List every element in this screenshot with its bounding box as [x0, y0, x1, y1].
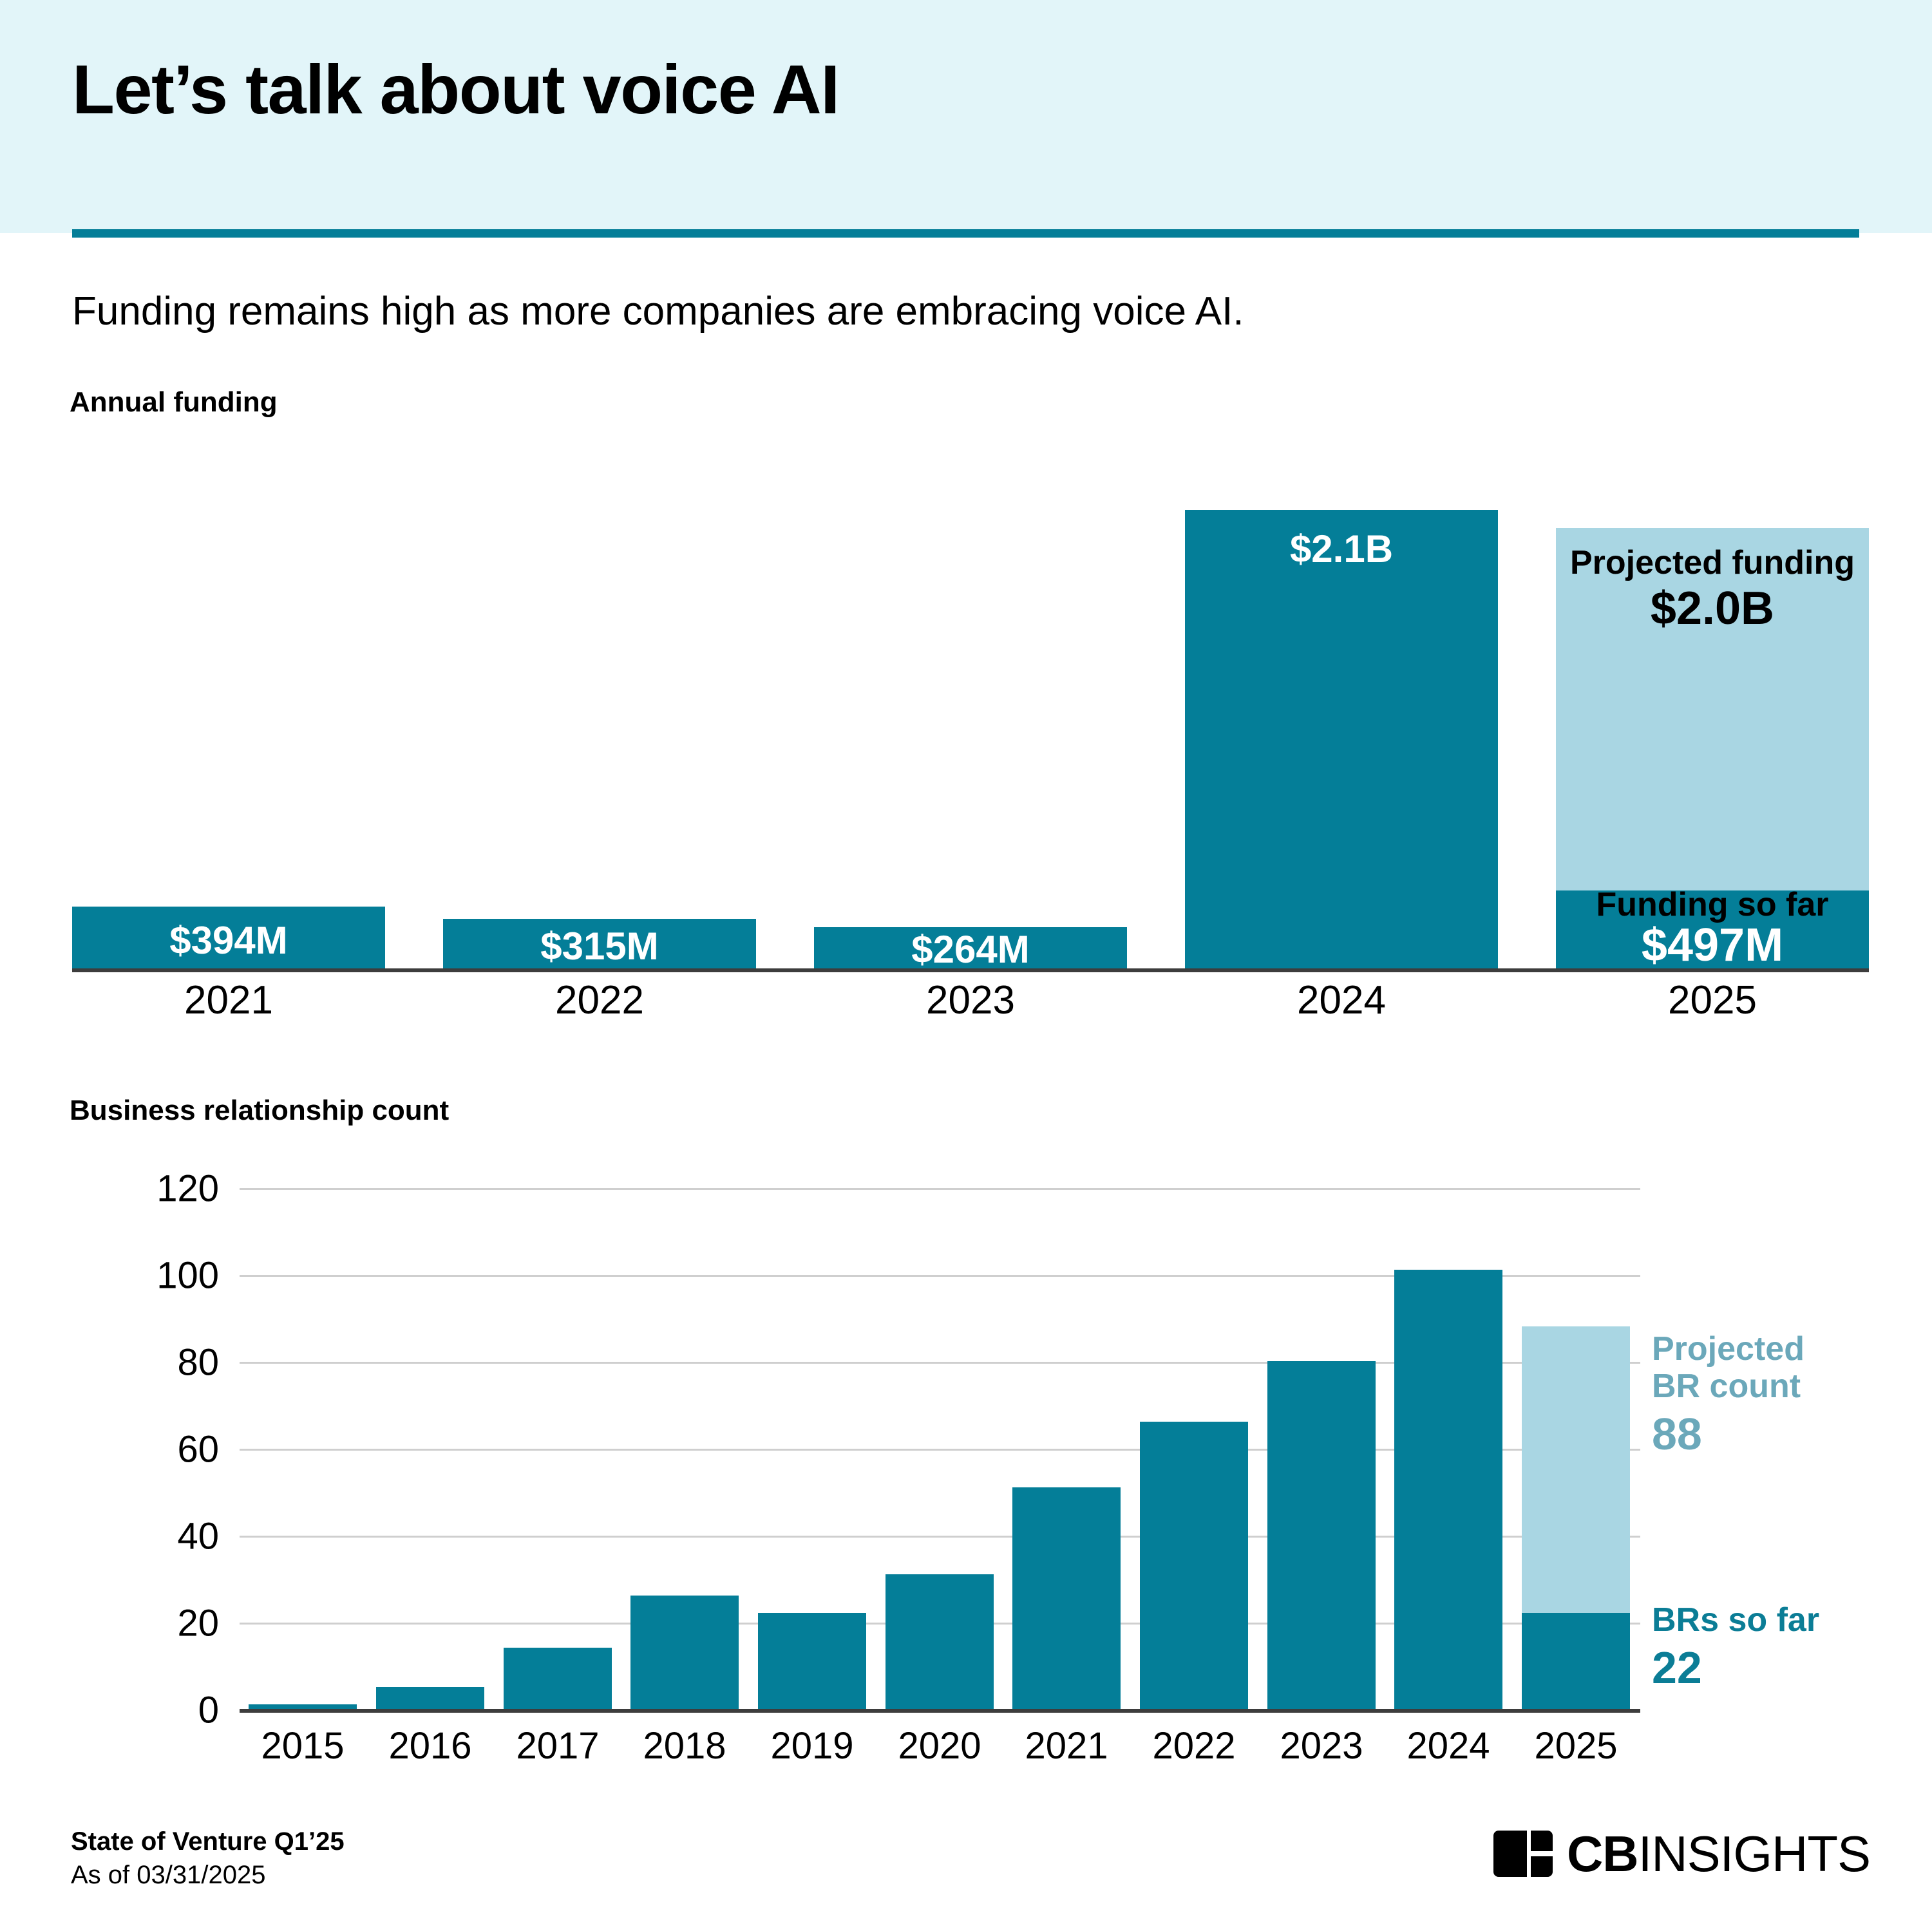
br-sofar-value: 22 — [1652, 1643, 1909, 1693]
br-x-axis-labels: 2015 2016 2017 2018 2019 2020 2021 2022 … — [240, 1724, 1640, 1782]
br-xlabel-2025: 2025 — [1522, 1724, 1630, 1767]
funding-value-2024: $2.1B — [1185, 527, 1498, 571]
br-xlabel-2022: 2022 — [1140, 1724, 1248, 1767]
cb-insights-mark-icon — [1493, 1831, 1553, 1877]
br-xlabel-2017: 2017 — [504, 1724, 612, 1767]
br-xlabel-2021: 2021 — [1012, 1724, 1121, 1767]
br-xlabel-2023: 2023 — [1267, 1724, 1376, 1767]
funding-value-2022: $315M — [443, 924, 756, 968]
funding-xlabel-2025: 2025 — [1556, 977, 1869, 1023]
br-xlabel-2019: 2019 — [758, 1724, 866, 1767]
funding-bar-2025-sofar: Funding so far $497M — [1556, 890, 1869, 968]
br-sofar-caption: BRs so far — [1652, 1601, 1819, 1639]
br-ytick-80: 80 — [90, 1341, 219, 1384]
section-label-annual-funding: Annual funding — [70, 386, 278, 419]
funding-projected-caption: Projected funding — [1556, 543, 1869, 582]
br-projected-value: 88 — [1652, 1409, 1909, 1459]
br-ytick-100: 100 — [90, 1254, 219, 1297]
funding-bar-2023: $264M — [814, 927, 1127, 968]
funding-value-2021: $394M — [72, 918, 385, 963]
br-xlabel-2015: 2015 — [249, 1724, 357, 1767]
br-ytick-120: 120 — [90, 1167, 219, 1210]
logo-square-bottom-right — [1531, 1856, 1553, 1877]
br-projected-annotation: Projected BR count 88 — [1652, 1330, 1909, 1460]
br-bar-2018 — [630, 1596, 739, 1709]
br-bar-2024 — [1394, 1270, 1502, 1709]
br-xlabel-2016: 2016 — [376, 1724, 484, 1767]
funding-bar-2022: $315M — [443, 919, 756, 968]
br-bar-2016 — [376, 1687, 484, 1709]
br-bar-2015 — [249, 1704, 357, 1709]
funding-projected-value: $2.0B — [1556, 582, 1869, 635]
br-ytick-20: 20 — [90, 1602, 219, 1645]
br-xlabel-2024: 2024 — [1394, 1724, 1502, 1767]
funding-bar-2025-projected: Projected funding $2.0B — [1556, 528, 1869, 890]
br-ytick-60: 60 — [90, 1428, 219, 1471]
funding-bar-2024: $2.1B — [1185, 510, 1498, 968]
br-baseline — [240, 1709, 1640, 1713]
funding-sofar-value: $497M — [1556, 919, 1869, 972]
br-projected-caption-line2: BR count — [1652, 1368, 1801, 1405]
br-bar-2022 — [1140, 1422, 1248, 1709]
br-bar-2020 — [885, 1574, 994, 1709]
funding-xlabel-2024: 2024 — [1185, 977, 1498, 1023]
page-title: Let’s talk about voice AI — [72, 53, 839, 126]
footer-source: State of Venture Q1’25 — [71, 1827, 345, 1856]
br-gridline-120 — [240, 1188, 1640, 1190]
funding-plot-area: $394M $315M $264M $2.1B — [72, 476, 1869, 972]
funding-x-axis-labels: 2021 2022 2023 2024 2025 — [72, 977, 1869, 1035]
funding-bar-2021: $394M — [72, 907, 385, 968]
br-bar-2025-sofar — [1522, 1613, 1630, 1709]
br-y-axis-labels: 120 100 80 60 40 20 0 — [90, 1159, 219, 1719]
funding-value-2023: $264M — [814, 927, 1127, 972]
br-sofar-annotation: BRs so far 22 — [1652, 1601, 1909, 1693]
br-ytick-40: 40 — [90, 1515, 219, 1558]
br-bar-2021 — [1012, 1487, 1121, 1709]
title-divider — [72, 229, 1859, 238]
br-bar-2017 — [504, 1648, 612, 1709]
br-xlabel-2020: 2020 — [885, 1724, 994, 1767]
br-plot-area — [240, 1159, 1640, 1713]
br-bar-2025-projected — [1522, 1326, 1630, 1613]
business-relationship-chart: 120 100 80 60 40 20 0 — [0, 1159, 1932, 1803]
subtitle: Funding remains high as more companies a… — [72, 288, 1244, 334]
cb-insights-logo: CBINSIGHTS — [1493, 1829, 1870, 1879]
cb-insights-wordmark: CBINSIGHTS — [1567, 1829, 1870, 1879]
br-projected-caption-line1: Projected — [1652, 1330, 1804, 1368]
infographic-page: Let’s talk about voice AI Funding remain… — [0, 0, 1932, 1931]
funding-xlabel-2023: 2023 — [814, 977, 1127, 1023]
logo-cb-text: CB — [1567, 1825, 1638, 1882]
br-bar-2023 — [1267, 1361, 1376, 1709]
section-label-br-count: Business relationship count — [70, 1095, 449, 1127]
logo-insights-text: INSIGHTS — [1638, 1825, 1870, 1882]
footer-as-of-date: As of 03/31/2025 — [71, 1861, 265, 1890]
logo-square-top-right — [1531, 1831, 1553, 1851]
logo-square-large — [1493, 1831, 1527, 1877]
br-bar-2019 — [758, 1613, 866, 1709]
funding-xlabel-2022: 2022 — [443, 977, 756, 1023]
br-xlabel-2018: 2018 — [630, 1724, 739, 1767]
br-ytick-0: 0 — [90, 1689, 219, 1732]
funding-sofar-caption: Funding so far — [1556, 885, 1869, 924]
funding-xlabel-2021: 2021 — [72, 977, 385, 1023]
annual-funding-chart: $394M $315M $264M $2.1B — [72, 476, 1869, 985]
